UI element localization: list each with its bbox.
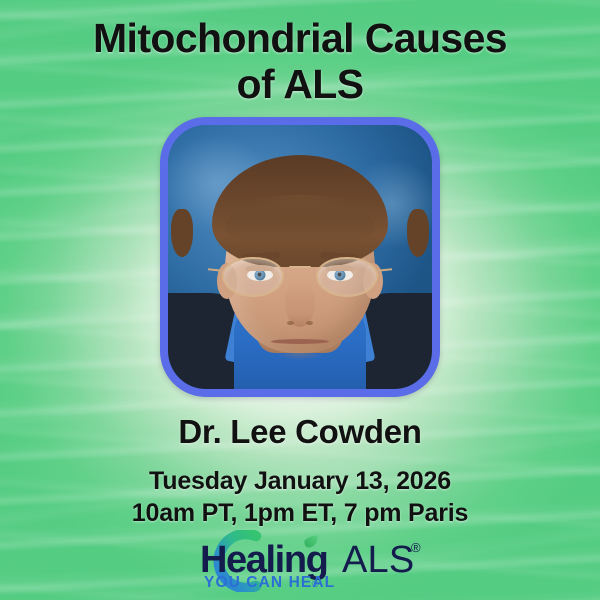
nostril-right (306, 321, 313, 325)
healing-als-logo-svg: Healing ALS ® YOU CAN HEAL ® (164, 530, 436, 592)
poster-content: Mitochondrial Causes of ALS (0, 0, 600, 600)
logo-tagline-registered-mark: ® (312, 579, 319, 589)
speaker-portrait-frame (160, 117, 440, 397)
logo-wordmark-als: ALS (342, 539, 414, 581)
speaker-photo (168, 125, 432, 389)
healing-als-logo: Healing ALS ® YOU CAN HEAL ® (164, 530, 436, 592)
lens-left (222, 257, 284, 297)
nostril-left (287, 321, 294, 325)
chin-shadow (265, 353, 335, 369)
sideburn-left (171, 209, 193, 257)
event-time: 10am PT, 1pm ET, 7 pm Paris (132, 497, 468, 530)
page-title: Mitochondrial Causes of ALS (0, 16, 600, 108)
event-datetime: Tuesday January 13, 2026 10am PT, 1pm ET… (132, 465, 468, 530)
title-line-1: Mitochondrial Causes (0, 16, 600, 62)
webinar-announcement-poster: Mitochondrial Causes of ALS (0, 0, 600, 600)
nose (285, 281, 315, 327)
sideburn-right (407, 209, 429, 257)
mouth (271, 339, 329, 344)
lens-right (316, 257, 378, 297)
hair-forehead-shadow (231, 195, 369, 229)
logo-registered-mark: ® (411, 540, 421, 555)
event-date: Tuesday January 13, 2026 (132, 465, 468, 498)
speaker-name: Dr. Lee Cowden (178, 413, 421, 451)
title-line-2: of ALS (0, 62, 600, 108)
glasses-bridge (289, 266, 311, 268)
